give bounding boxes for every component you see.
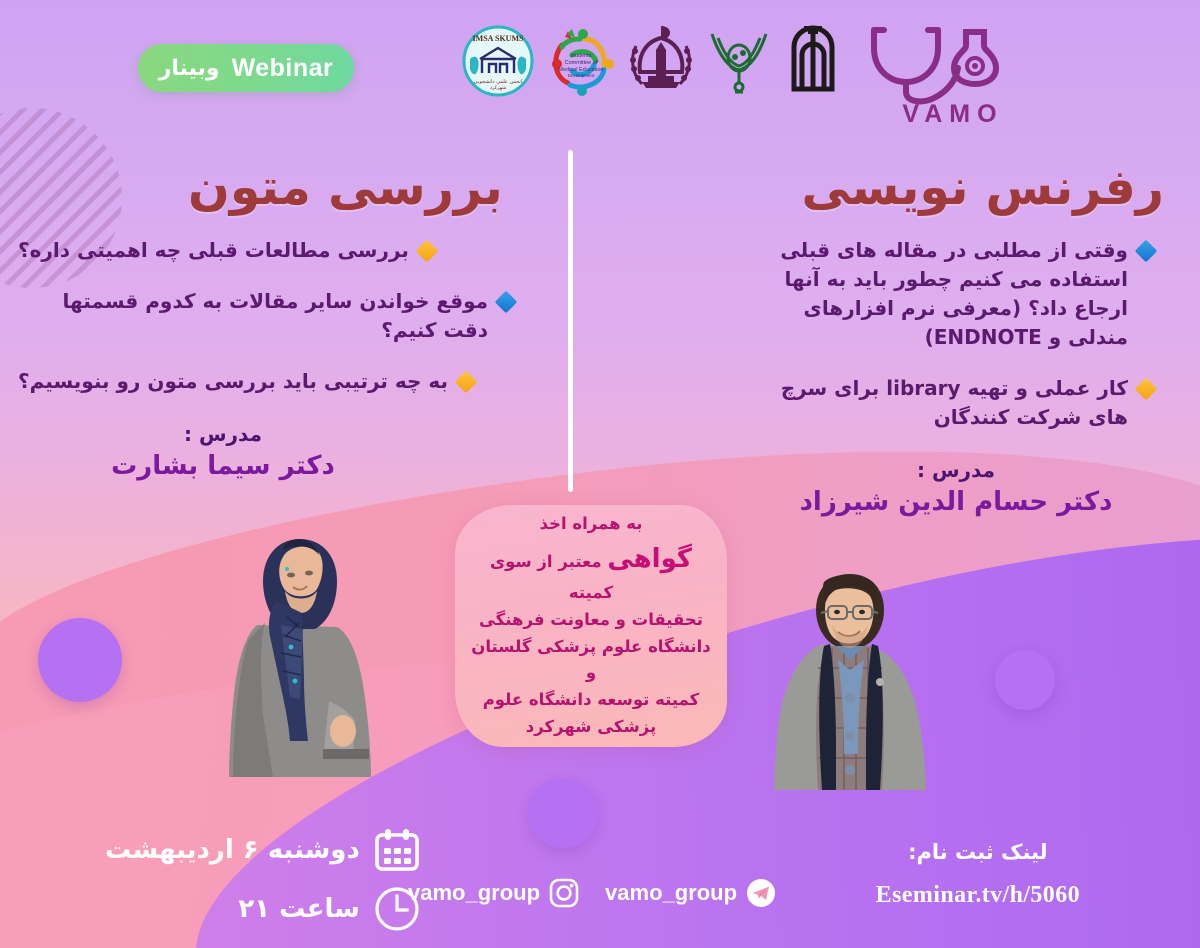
- telegram-handle: vamo_group: [605, 880, 737, 906]
- telegram-icon: [746, 878, 776, 908]
- certificate-highlight: گواهی: [607, 544, 692, 574]
- wheat-monument-logo: [628, 24, 694, 98]
- decorative-circle-center: [528, 778, 598, 848]
- diamond-bullet-icon: [455, 371, 478, 394]
- diamond-bullet-icon: [495, 291, 518, 314]
- certificate-card: به همراه اخذ گواهی معتبر از سوی کمیته تح…: [455, 505, 727, 747]
- column-right-title: رفرنس نویسی: [746, 160, 1176, 216]
- event-date: دوشنبه ۶ اردیبهشت: [105, 835, 360, 865]
- teacher-name: دکتر حسام الدین شیرزاد: [746, 486, 1166, 519]
- diamond-bullet-icon: [1135, 240, 1158, 263]
- decorative-circle-left: [38, 618, 122, 702]
- certificate-line-2-rest: معتبر از سوی کمیته: [490, 552, 613, 602]
- svg-text:شهرکرد: شهرکرد: [490, 85, 507, 91]
- vamo-wordmark: VAMO: [902, 100, 1003, 129]
- registration-link[interactable]: Eseminar.tv/h/5060: [876, 882, 1080, 909]
- left-teacher-block: مدرس : دکتر سیما بشارت: [18, 422, 548, 483]
- imsa-skums-logo: IMSA SKUMS انجمن علمی دانشجویی شهرکرد: [462, 25, 534, 97]
- event-time-row: ساعت ۲۱: [105, 886, 420, 932]
- stethoscope-flask-icon: [860, 22, 1016, 106]
- column-right-bullets: وقتی از مطلبی در مقاله های قبلی استفاده …: [746, 236, 1176, 432]
- certificate-line-5: کمیته توسعه دانشگاه علوم: [469, 687, 713, 714]
- instagram-icon: [549, 878, 579, 908]
- certificate-line-6: پزشکی شهرکرد: [469, 714, 713, 741]
- column-left-bullets: بررسی مطالعات قبلی چه اهمیتی داره؟ موقع …: [18, 236, 548, 396]
- certificate-line-1: به همراه اخذ: [469, 511, 713, 538]
- column-reference-writing: رفرنس نویسی وقتی از مطلبی در مقاله های ق…: [746, 160, 1176, 519]
- goums-emblem-logo: [784, 25, 842, 97]
- column-divider: [568, 150, 573, 492]
- telegram-link[interactable]: vamo_group: [605, 878, 776, 908]
- list-item: وقتی از مطلبی در مقاله های قبلی استفاده …: [746, 236, 1176, 352]
- bullet-label: موقع خواندن سایر مقالات به کدوم قسمتها د…: [18, 287, 488, 345]
- list-item: بررسی مطالعات قبلی چه اهمیتی داره؟: [18, 236, 548, 265]
- list-item: به چه ترتیبی باید بررسی متون رو بنویسیم؟: [18, 367, 548, 396]
- diamond-bullet-icon: [416, 240, 439, 263]
- teacher-label: مدرس :: [746, 458, 1166, 482]
- instagram-link[interactable]: vamo_group: [408, 878, 579, 908]
- teacher-label: مدرس :: [18, 422, 428, 446]
- webinar-badge-label-en: Webinar: [232, 54, 334, 83]
- vamo-brand: VAMO: [860, 22, 1016, 129]
- column-literature-review: بررسی متون بررسی مطالعات قبلی چه اهمیتی …: [18, 160, 548, 483]
- event-time: ساعت ۲۱: [238, 894, 359, 924]
- instagram-handle: vamo_group: [408, 880, 540, 906]
- registration-block: لینک ثبت نام: Eseminar.tv/h/5060: [876, 840, 1080, 909]
- certificate-line-4: دانشگاه علوم پزشکی گلستان و: [469, 634, 713, 687]
- event-meta: دوشنبه ۶ اردیبهشت ساعت ۲۱: [105, 828, 420, 946]
- svg-text:Committee of: Committee of: [565, 60, 598, 66]
- bullet-label: وقتی از مطلبی در مقاله های قبلی استفاده …: [746, 236, 1128, 352]
- certificate-text: به همراه اخذ گواهی معتبر از سوی کمیته تح…: [455, 511, 727, 740]
- svg-text:IMSA SKUMS: IMSA SKUMS: [473, 34, 524, 43]
- right-teacher-block: مدرس : دکتر حسام الدین شیرزاد: [746, 458, 1176, 519]
- webinar-badge: Webinar وبینار: [138, 44, 354, 92]
- bullet-label: کار عملی و تهیه library برای سرچ های شرک…: [746, 374, 1128, 432]
- event-date-row: دوشنبه ۶ اردیبهشت: [105, 828, 420, 872]
- medical-caduceus-logo: [708, 24, 770, 98]
- svg-text:students: students: [571, 53, 592, 59]
- registration-label: لینک ثبت نام:: [876, 840, 1080, 864]
- partner-logos: students Committee of Medical Education …: [462, 24, 842, 98]
- diamond-bullet-icon: [1135, 378, 1158, 401]
- poster-canvas: Webinar وبینار: [0, 0, 1200, 948]
- list-item: کار عملی و تهیه library برای سرچ های شرک…: [746, 374, 1176, 432]
- webinar-badge-label-fa: وبینار: [159, 56, 220, 81]
- bullet-label: به چه ترتیبی باید بررسی متون رو بنویسیم؟: [18, 367, 448, 396]
- calendar-icon: [374, 828, 420, 872]
- column-left-title: بررسی متون: [18, 160, 548, 216]
- certificate-line-2: گواهی معتبر از سوی کمیته: [469, 538, 713, 607]
- speaker-photo-hesamoddin-shirzad: [752, 548, 948, 790]
- teacher-name: دکتر سیما بشارت: [18, 450, 428, 483]
- students-committee-medical-education-development-logo: students Committee of Medical Education …: [548, 25, 614, 97]
- decorative-circle-right: [995, 650, 1055, 710]
- speaker-photo-sima-besharat: [205, 505, 395, 777]
- list-item: موقع خواندن سایر مقالات به کدوم قسمتها د…: [18, 287, 548, 345]
- svg-text:Development: Development: [568, 73, 595, 78]
- social-links: vamo_group vamo_group: [408, 878, 776, 908]
- bullet-label: بررسی مطالعات قبلی چه اهمیتی داره؟: [18, 236, 409, 265]
- certificate-line-3: تحقیقات و معاونت فرهنگی: [469, 607, 713, 634]
